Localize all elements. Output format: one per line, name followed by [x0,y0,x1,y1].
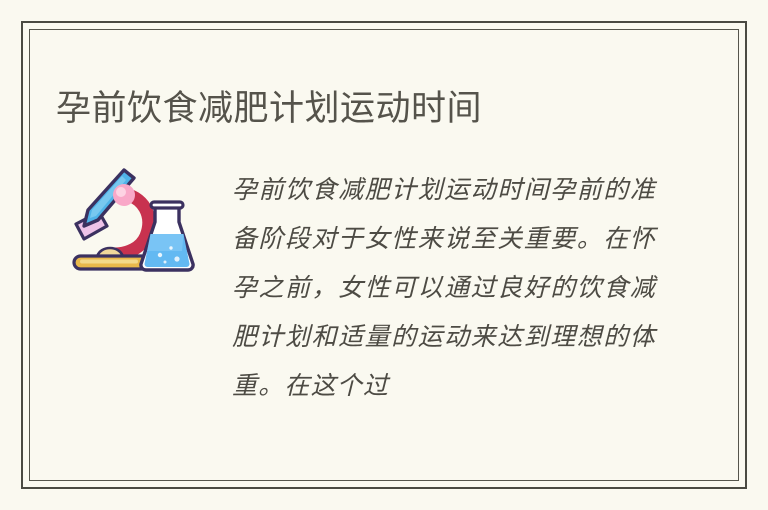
microscope-and-flask-illustration [62,160,204,278]
article-card: 孕前饮食减肥计划运动时间 [0,0,768,510]
page-title: 孕前饮食减肥计划运动时间 [56,85,696,133]
article-body: 孕前饮食减肥计划运动时间孕前的准备阶段对于女性来说至关重要。在怀孕之前，女性可以… [232,166,656,411]
microscope-base [74,256,148,269]
microscope-lens-joint [113,184,135,206]
article-body-paragraph: 孕前饮食减肥计划运动时间孕前的准备阶段对于女性来说至关重要。在怀孕之前，女性可以… [232,166,656,411]
